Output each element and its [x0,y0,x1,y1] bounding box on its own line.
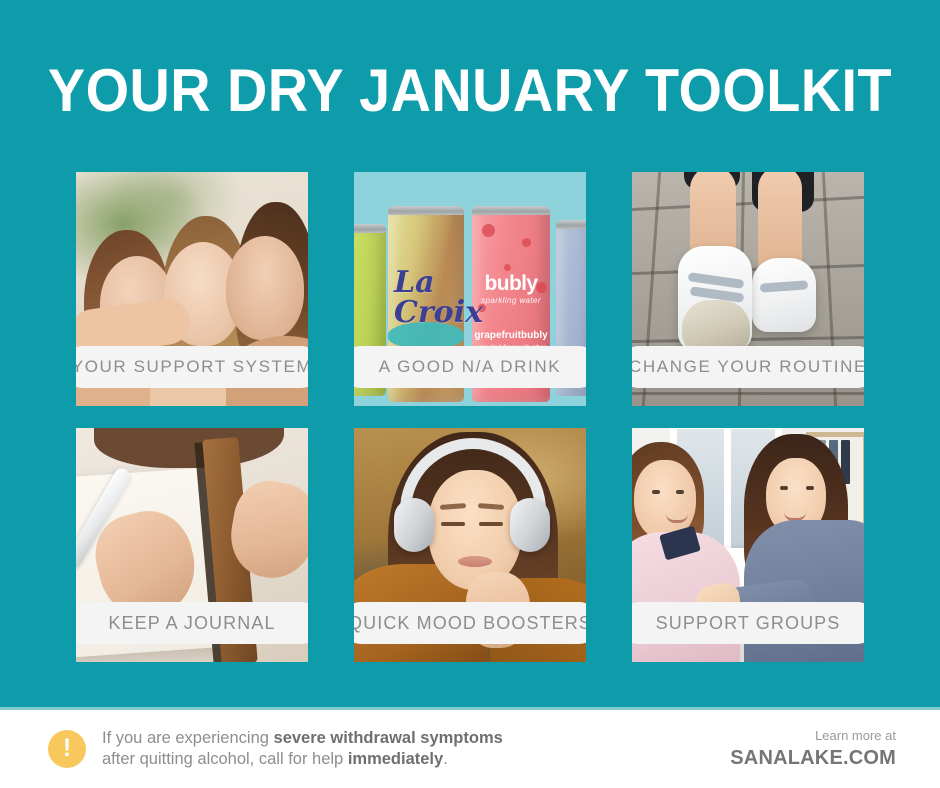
card-label-na-drink: A GOOD N/A DRINK [354,346,586,388]
page-title: YOUR DRY JANUARY TOOLKIT [33,54,907,128]
toolkit-card-change-routine[interactable]: CHANGE YOUR ROUTINE [632,172,864,406]
withdrawal-warning: ! If you are experiencing severe withdra… [48,728,503,770]
toolkit-card-mood-boosters[interactable]: QUICK MOOD BOOSTERS [354,428,586,662]
bubly-can-brand: bubly [472,272,550,296]
bubly-can-subtitle: sparkling water [472,296,550,305]
warning-line-1: If you are experiencing severe withdrawa… [102,729,503,747]
card-label-change-routine: CHANGE YOUR ROUTINE [632,346,864,388]
card-label-support-groups: SUPPORT GROUPS [632,602,864,644]
toolkit-card-keep-journal[interactable]: KEEP A JOURNAL [76,428,308,662]
lacroix-can-script: La Croix [394,268,466,348]
toolkit-card-na-drink[interactable]: La Croix bubly sparkling water grapefrui… [354,172,586,406]
warning-line-2: after quitting alcohol, call for help im… [102,750,448,768]
footer-bar: ! If you are experiencing severe withdra… [0,710,940,788]
toolkit-card-support-groups[interactable]: SUPPORT GROUPS [632,428,864,662]
warning-text: If you are experiencing severe withdrawa… [102,728,503,770]
dry-january-infographic: YOUR DRY JANUARY TOOLKIT [0,0,940,788]
exclamation-icon: ! [48,730,86,768]
learn-more-label: Learn more at [730,729,896,743]
card-label-support-system: YOUR SUPPORT SYSTEM [76,346,308,388]
card-label-mood-boosters: QUICK MOOD BOOSTERS [354,602,586,644]
toolkit-row-2: KEEP A JOURNAL [76,428,864,662]
toolkit-card-support-system[interactable]: YOUR SUPPORT SYSTEM [76,172,308,406]
bubly-can-flavor: grapefruitbubly [472,330,550,341]
brand-domain[interactable]: SANALAKE.COM [730,747,896,769]
toolkit-grid: YOUR SUPPORT SYSTEM [76,172,864,662]
card-label-keep-journal: KEEP A JOURNAL [76,602,308,644]
toolkit-row-1: YOUR SUPPORT SYSTEM [76,172,864,406]
brand-callout[interactable]: Learn more at SANALAKE.COM [730,729,896,768]
